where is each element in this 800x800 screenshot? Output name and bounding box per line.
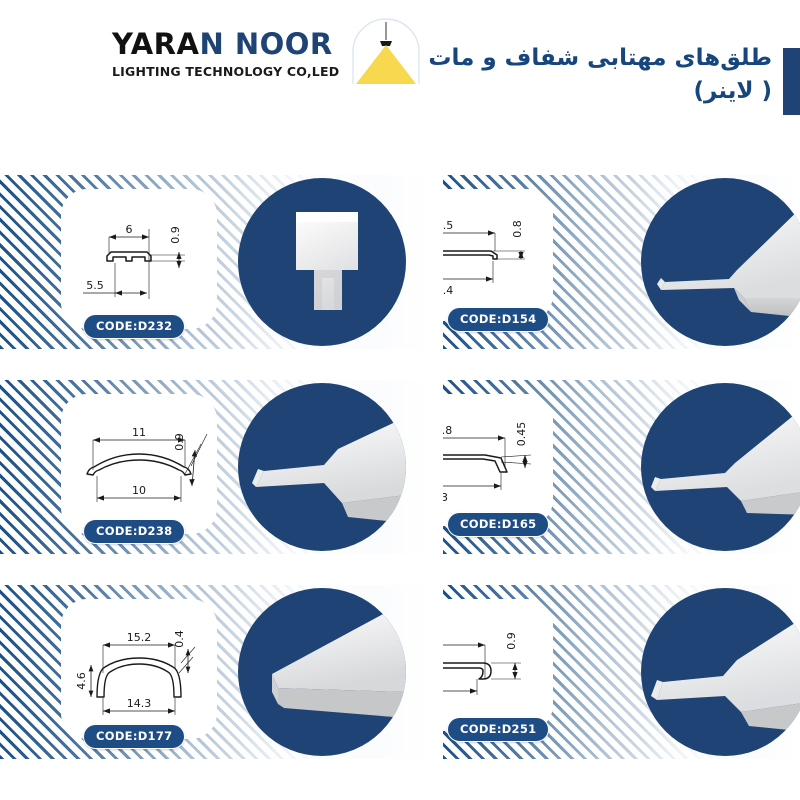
brand-wordmark: YARAN NOOR LIGHTING TECHNOLOGY CO,LED: [112, 24, 339, 79]
product-code-badge: CODE:D154: [447, 307, 549, 332]
dimension-top-width: 11: [132, 426, 146, 439]
grid-gap: [0, 554, 430, 585]
dimension-top-width: 13.8: [443, 424, 452, 437]
product-code-badge: CODE:D238: [83, 519, 185, 544]
technical-drawing-panel: 6 0.9 5.5: [61, 189, 217, 329]
product-photo: [238, 588, 406, 756]
page-title: طلق‌های مهتابی شفاف و مات ( لاینر): [428, 42, 772, 109]
dimension-top-width: 6: [126, 223, 133, 236]
product-card-d177[interactable]: 15.2 0.4 4.6 14.3 CODE:D177: [0, 585, 430, 759]
grid-gap: [430, 585, 443, 759]
product-card-d238[interactable]: 11 0.9 10 CODE:D238: [0, 380, 430, 554]
dimension-height: 0.4: [173, 630, 186, 648]
product-code-badge: CODE:D177: [83, 724, 185, 749]
dimension-bottom-width: 14.3: [127, 697, 152, 710]
product-code-badge: CODE:D251: [447, 717, 549, 742]
grid-gap: [430, 349, 443, 380]
product-photo: [238, 383, 406, 551]
dimension-side-height: 4.6: [75, 672, 88, 690]
product-photo: [641, 383, 800, 551]
page-title-line-2: ( لاینر): [428, 75, 772, 108]
product-card-d165[interactable]: 13.8 0.45 13 CODE:D165: [443, 380, 800, 554]
dimension-height: 0.8: [511, 220, 524, 238]
product-photo: [641, 178, 800, 346]
grid-gap: [0, 349, 430, 380]
brand-name-part-1: YARA: [112, 27, 199, 61]
pendant-lamp-icon: [347, 12, 425, 90]
dimension-height: 0.45: [515, 422, 528, 447]
technical-drawing-panel: 13.8 0.45 13: [443, 394, 553, 526]
dimension-bottom-width: 13: [443, 491, 448, 504]
grid-gap: [430, 175, 443, 349]
product-card-d251[interactable]: 17.6 0.9 16.8 CODE:D251: [443, 585, 800, 759]
brand-logo: YARAN NOOR LIGHTING TECHNOLOGY CO,LED: [112, 12, 425, 90]
technical-drawing-panel: 15.2 0.4 4.6 14.3: [61, 599, 217, 739]
technical-drawing-panel: 17.6 0.9 16.8: [443, 599, 553, 731]
product-code-badge: CODE:D232: [83, 314, 185, 339]
product-grid: 10.5 0.8 10.4 CODE:D154: [0, 175, 800, 800]
product-card-d232[interactable]: 6 0.9 5.5 CODE:D232: [0, 175, 430, 349]
grid-gap: [443, 349, 800, 380]
grid-gap: [443, 554, 800, 585]
dimension-bottom-width: 5.5: [86, 279, 104, 292]
grid-gap: [430, 554, 443, 585]
dimension-top-width: 15.2: [127, 631, 152, 644]
product-code-badge: CODE:D165: [447, 512, 549, 537]
page-title-line-1: طلق‌های مهتابی شفاف و مات: [428, 42, 772, 75]
product-photo: [238, 178, 406, 346]
dimension-bottom-width: 10: [132, 484, 146, 497]
product-card-d154[interactable]: 10.5 0.8 10.4 CODE:D154: [443, 175, 800, 349]
dimension-height: 0.9: [169, 226, 182, 244]
brand-tagline: LIGHTING TECHNOLOGY CO,LED: [112, 64, 339, 79]
technical-drawing-panel: 10.5 0.8 10.4: [443, 189, 553, 321]
dimension-height: 0.9: [505, 632, 518, 650]
dimension-bottom-width: 10.4: [443, 284, 453, 297]
technical-drawing-panel: 11 0.9 10: [61, 394, 217, 534]
brand-name-part-2: N NOOR: [199, 27, 332, 61]
dimension-height: 0.9: [173, 433, 186, 451]
title-accent-bar: [783, 48, 800, 115]
dimension-top-width: 10.5: [443, 219, 453, 232]
product-photo: [641, 588, 800, 756]
grid-gap: [430, 380, 443, 554]
page-header: YARAN NOOR LIGHTING TECHNOLOGY CO,LED طل…: [0, 0, 800, 175]
